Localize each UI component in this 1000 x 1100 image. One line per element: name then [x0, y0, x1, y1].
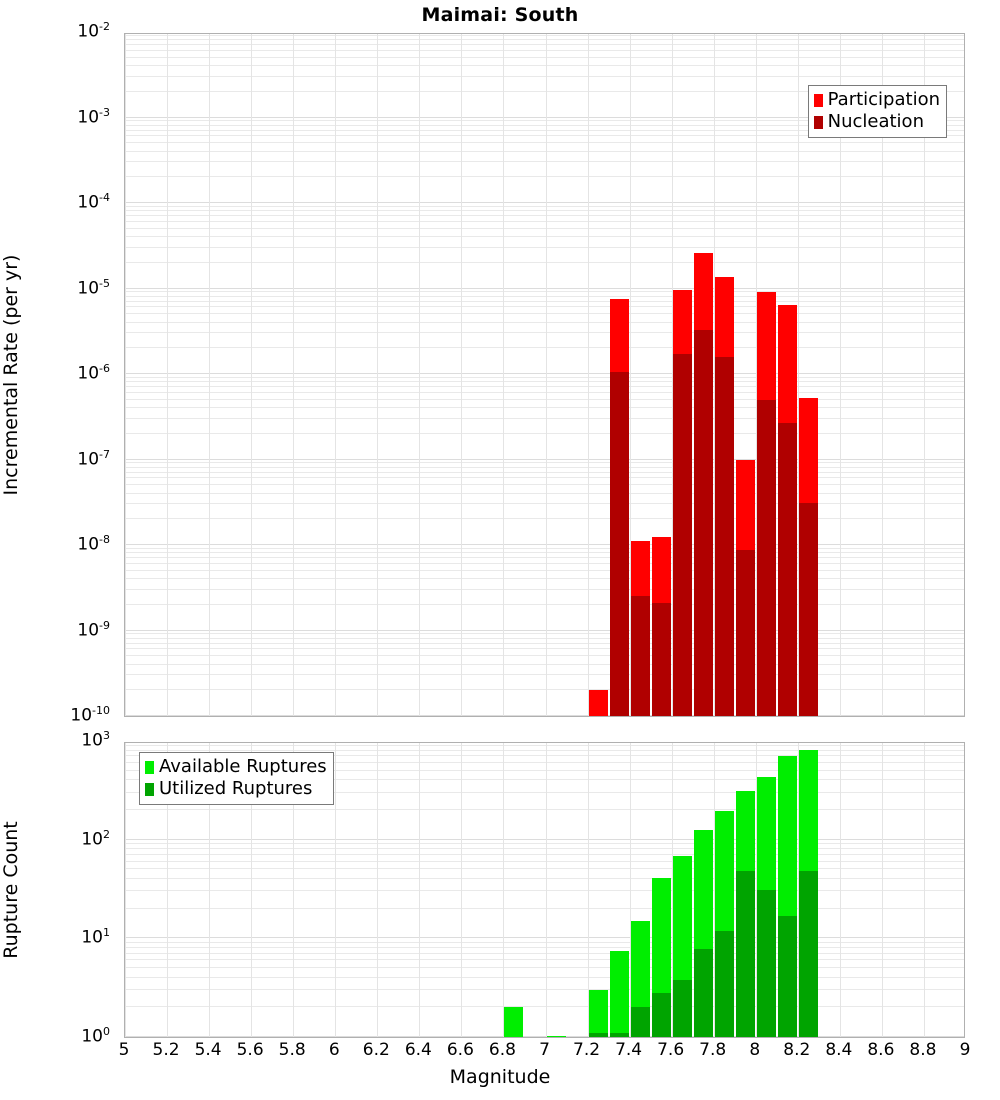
legend-item: Participation — [814, 89, 940, 111]
bar-segment-utilized-ruptures — [715, 931, 734, 1037]
bar-segment-available-ruptures — [610, 951, 629, 1037]
bar-group — [736, 742, 755, 1037]
bar-segment-nucleation — [652, 603, 671, 716]
bar-segment-utilized-ruptures — [799, 871, 818, 1037]
y-tick-label: 10-8 — [0, 533, 118, 555]
bar-segment-nucleation — [778, 423, 797, 716]
legend-item: Utilized Ruptures — [145, 778, 327, 800]
bar-group — [673, 742, 692, 1037]
legend-label: Participation — [828, 91, 940, 109]
y-tick-label: 102 — [0, 828, 118, 850]
legend-swatch-icon — [814, 116, 823, 129]
y-tick-label: 10-9 — [0, 619, 118, 641]
x-tick-label: 9 — [935, 1040, 995, 1060]
x-axis-label: Magnitude — [0, 1066, 1000, 1088]
bar-group — [736, 33, 755, 716]
y-tick-label: 10-4 — [0, 191, 118, 213]
bar-group — [652, 33, 671, 716]
page-title: Maimai: South — [0, 4, 1000, 26]
y-tick-label: 10-2 — [0, 20, 118, 42]
bar-group — [799, 742, 818, 1037]
bar-segment-nucleation — [694, 330, 713, 716]
bar-segment-available-ruptures — [504, 1007, 523, 1037]
bar-segment-available-ruptures — [589, 990, 608, 1037]
bar-segment-nucleation — [736, 550, 755, 716]
bar-segment-utilized-ruptures — [589, 1033, 608, 1037]
bar-group — [757, 33, 776, 716]
bar-segment-utilized-ruptures — [736, 871, 755, 1037]
legend-item: Nucleation — [814, 111, 940, 133]
y-tick-label: 10-10 — [0, 704, 118, 726]
bar-segment-nucleation — [715, 357, 734, 716]
bar-group — [547, 742, 566, 1037]
y-tick-label: 10-7 — [0, 448, 118, 470]
bar-segment-utilized-ruptures — [673, 980, 692, 1037]
bar-segment-available-ruptures — [547, 1036, 566, 1037]
bar-group — [757, 742, 776, 1037]
y-tick-label: 103 — [0, 729, 118, 751]
legend-top: ParticipationNucleation — [808, 85, 947, 138]
bar-segment-nucleation — [610, 372, 629, 716]
legend-swatch-icon — [145, 761, 154, 774]
bar-segment-utilized-ruptures — [778, 916, 797, 1037]
bar-group — [715, 742, 734, 1037]
rupture-count-plot: Available RupturesUtilized Ruptures — [124, 742, 965, 1038]
bar-group — [673, 33, 692, 716]
bar-group — [631, 33, 650, 716]
legend-bottom: Available RupturesUtilized Ruptures — [139, 752, 334, 805]
bar-segment-utilized-ruptures — [757, 890, 776, 1037]
bar-segment-nucleation — [799, 503, 818, 716]
chart-page: Maimai: South Incremental Rate (per yr) … — [0, 0, 1000, 1100]
bar-group — [610, 33, 629, 716]
bar-segment-utilized-ruptures — [610, 1033, 629, 1037]
y-tick-label: 10-3 — [0, 106, 118, 128]
y-tick-label: 101 — [0, 926, 118, 948]
bar-segment-participation — [589, 690, 608, 716]
bar-group — [589, 742, 608, 1037]
bar-segment-utilized-ruptures — [652, 993, 671, 1037]
bar-group — [715, 33, 734, 716]
bar-segment-nucleation — [757, 400, 776, 716]
bar-group — [610, 742, 629, 1037]
legend-label: Nucleation — [828, 113, 924, 131]
legend-label: Available Ruptures — [159, 758, 327, 776]
bar-segment-nucleation — [673, 354, 692, 716]
y-tick-label: 10-6 — [0, 362, 118, 384]
y-tick-label: 10-5 — [0, 277, 118, 299]
bar-segment-utilized-ruptures — [631, 1007, 650, 1037]
legend-item: Available Ruptures — [145, 756, 327, 778]
incremental-rate-plot: ParticipationNucleation — [124, 33, 965, 717]
bar-segment-utilized-ruptures — [694, 949, 713, 1037]
legend-swatch-icon — [814, 94, 823, 107]
bar-group — [778, 33, 797, 716]
bar-group — [589, 33, 608, 716]
bar-group — [694, 742, 713, 1037]
bar-group — [778, 742, 797, 1037]
legend-label: Utilized Ruptures — [159, 780, 312, 798]
legend-swatch-icon — [145, 783, 154, 796]
bar-group — [652, 742, 671, 1037]
bar-group — [694, 33, 713, 716]
bar-segment-nucleation — [631, 596, 650, 716]
bar-group — [504, 742, 523, 1037]
bar-group — [631, 742, 650, 1037]
